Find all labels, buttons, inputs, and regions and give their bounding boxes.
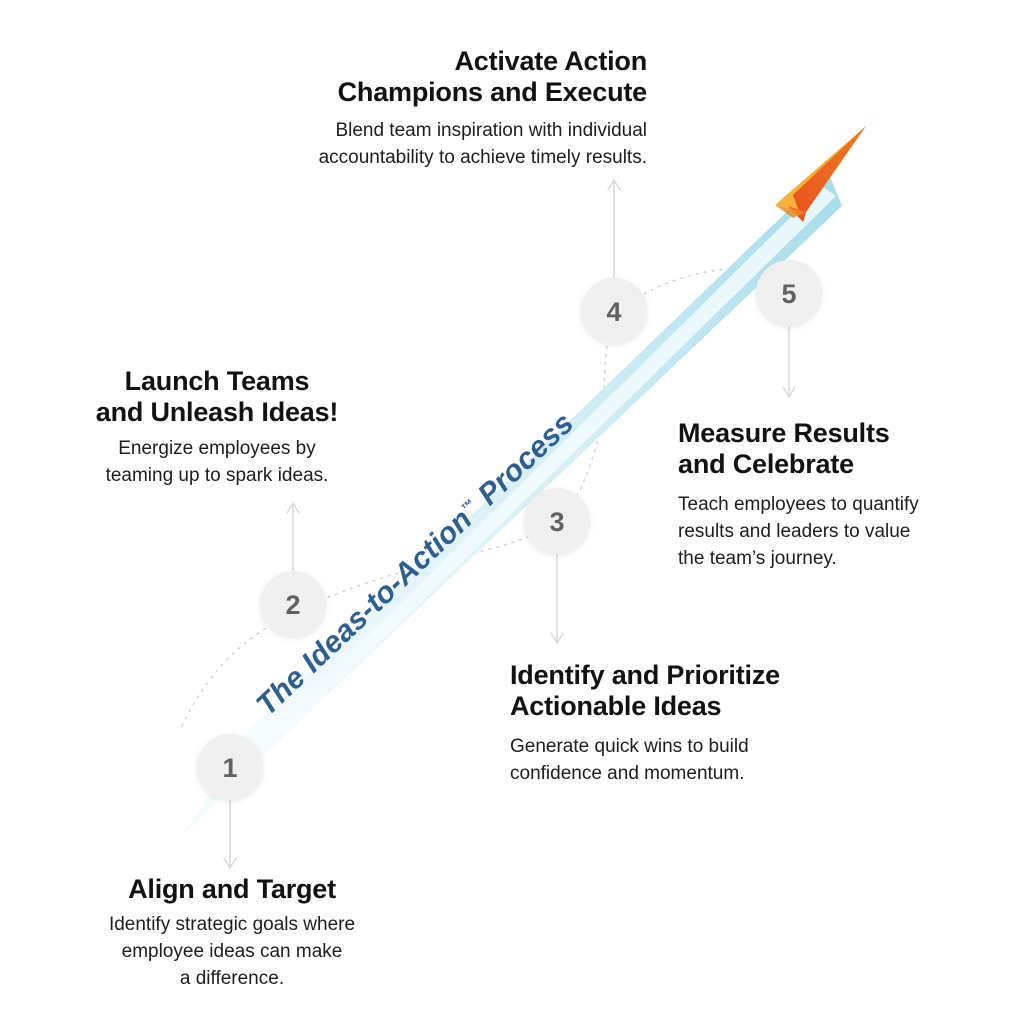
step-badge-4[interactable]: 4 xyxy=(581,278,647,344)
step-2-description: Energize employees by teaming up to spar… xyxy=(62,436,372,490)
step-badge-1[interactable]: 1 xyxy=(197,734,263,800)
step-badge-3[interactable]: 3 xyxy=(524,488,590,554)
connector-step-5 xyxy=(783,327,795,397)
step-badge-5[interactable]: 5 xyxy=(756,260,822,326)
connector-step-1 xyxy=(224,800,236,868)
step-1-description: Identify strategic goals where employee … xyxy=(82,912,382,993)
step-3-title: Identify and Prioritize Actionable Ideas xyxy=(510,660,840,723)
step-3-description: Generate quick wins to build confidence … xyxy=(510,734,840,788)
step-block-2: Launch Teams and Unleash Ideas! Energize… xyxy=(62,366,372,490)
connector-step-2 xyxy=(287,503,299,571)
connector-step-3 xyxy=(551,554,563,643)
step-block-3: Identify and Prioritize Actionable Ideas… xyxy=(510,660,840,788)
diagram-canvas: The Ideas-to-Action™ Process xyxy=(0,0,1024,1024)
step-1-title: Align and Target xyxy=(82,874,382,905)
step-4-description: Blend team inspiration with individual a… xyxy=(262,118,647,172)
step-4-title: Activate Action Champions and Execute xyxy=(262,46,647,109)
step-5-title: Measure Results and Celebrate xyxy=(678,418,944,481)
step-badge-4-number: 4 xyxy=(606,297,621,327)
step-badge-5-number: 5 xyxy=(781,279,796,309)
step-badge-2[interactable]: 2 xyxy=(260,571,326,637)
step-badge-3-number: 3 xyxy=(549,507,564,537)
step-2-title: Launch Teams and Unleash Ideas! xyxy=(62,366,372,429)
connector-step-4 xyxy=(608,180,620,278)
step-5-description: Teach employees to quantify results and … xyxy=(678,492,944,573)
step-badge-1-number: 1 xyxy=(222,753,237,783)
step-block-4: Activate Action Champions and Execute Bl… xyxy=(262,46,647,172)
step-block-5: Measure Results and Celebrate Teach empl… xyxy=(678,418,944,573)
step-badge-2-number: 2 xyxy=(285,590,300,620)
step-block-1: Align and Target Identify strategic goal… xyxy=(82,874,382,993)
